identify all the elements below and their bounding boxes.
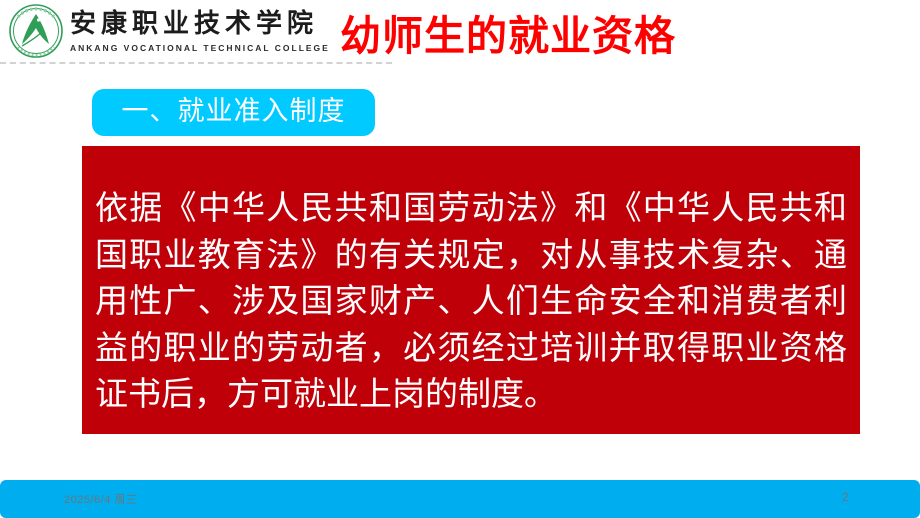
footer-date: 2025/6/4 周三 bbox=[64, 491, 137, 507]
college-logo: 安康职业技术学院 ANKANG VOCATIONAL TECHNICAL COL… bbox=[8, 3, 330, 59]
ankang-college-emblem-icon bbox=[8, 3, 64, 59]
content-paragraph: 依据《中华人民共和国劳动法》和《中华人民共和国职业教育法》的有关规定，对从事技术… bbox=[95, 185, 847, 418]
college-name-en: ANKANG VOCATIONAL TECHNICAL COLLEGE bbox=[70, 43, 330, 53]
section-heading-label: 一、就业准入制度 bbox=[122, 98, 346, 125]
college-name-block: 安康职业技术学院 ANKANG VOCATIONAL TECHNICAL COL… bbox=[70, 8, 330, 53]
content-panel: 依据《中华人民共和国劳动法》和《中华人民共和国职业教育法》的有关规定，对从事技术… bbox=[82, 146, 860, 434]
slide-footer: 2025/6/4 周三 2 bbox=[0, 480, 920, 518]
header-divider bbox=[0, 62, 392, 64]
footer-page-number: 2 bbox=[842, 490, 849, 504]
page-title: 幼师生的就业资格 bbox=[340, 13, 760, 60]
presentation-slide: 安康职业技术学院 ANKANG VOCATIONAL TECHNICAL COL… bbox=[0, 0, 920, 518]
college-name-cn: 安康职业技术学院 bbox=[70, 10, 330, 40]
section-heading-pill: 一、就业准入制度 bbox=[92, 89, 375, 136]
